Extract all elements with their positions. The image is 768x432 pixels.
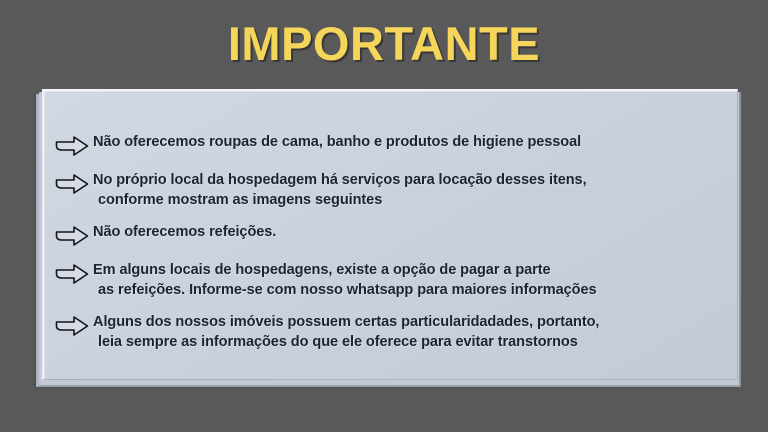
list-item-text: Em alguns locais de hospedagens, existe … — [93, 261, 597, 300]
list-item-line: conforme mostram as imagens seguintes — [93, 191, 587, 211]
list-item-line: Não oferecemos roupas de cama, banho e p… — [93, 133, 581, 153]
block-arrow-right-icon — [54, 262, 90, 286]
list-item: Alguns dos nossos imóveis possuem certas… — [54, 313, 729, 352]
list-item: Não oferecemos roupas de cama, banho e p… — [54, 133, 729, 158]
list-item-line: Alguns dos nossos imóveis possuem certas… — [93, 313, 599, 333]
list-item: No próprio local da hospedagem há serviç… — [54, 171, 729, 210]
list-item-line: Não oferecemos refeições. — [93, 223, 276, 243]
block-arrow-right-icon — [54, 134, 90, 158]
list-item-text: Alguns dos nossos imóveis possuem certas… — [93, 313, 599, 352]
page-title: IMPORTANTE — [0, 18, 768, 70]
list-item-text: Não oferecemos roupas de cama, banho e p… — [93, 133, 581, 153]
block-arrow-right-icon — [54, 172, 90, 196]
list-item-line: leia sempre as informações do que ele of… — [93, 333, 599, 353]
list-item-text: Não oferecemos refeições. — [93, 223, 276, 243]
bullet-list: Não oferecemos roupas de cama, banho e p… — [54, 133, 729, 352]
list-item-line: as refeições. Informe-se com nosso whats… — [93, 281, 597, 301]
block-arrow-right-icon — [54, 224, 90, 248]
list-item-text: No próprio local da hospedagem há serviç… — [93, 171, 587, 210]
content-panel: Não oferecemos roupas de cama, banho e p… — [42, 89, 738, 380]
list-item-line: No próprio local da hospedagem há serviç… — [93, 171, 587, 191]
list-item: Em alguns locais de hospedagens, existe … — [54, 261, 729, 300]
list-item: Não oferecemos refeições. — [54, 223, 729, 248]
block-arrow-right-icon — [54, 314, 90, 338]
list-item-line: Em alguns locais de hospedagens, existe … — [93, 261, 597, 281]
slide-canvas: IMPORTANTE Não oferecemos roupas de cama… — [0, 0, 768, 432]
